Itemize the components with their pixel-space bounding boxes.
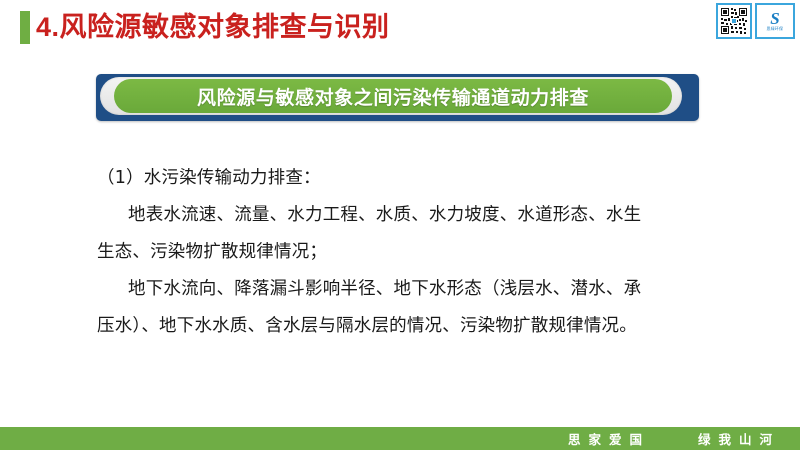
body-line: 地表水流速、流量、水力工程、水质、水力坡度、水道形态、水生 [97,197,722,234]
slide-footer: 思家爱国 绿我山河 [0,427,800,450]
body-line: 压水）、地下水水质、含水层与隔水层的情况、污染物扩散规律情况。 [97,308,722,345]
section-banner-inner: 风险源与敏感对象之间污染传输通道动力排查 [100,77,682,115]
footer-slogan-right: 绿我山河 [698,429,780,448]
logo-mark-icon: S [770,11,779,26]
company-logo[interactable]: S 思绿环保 [755,3,795,39]
body-line: 地下水流向、降落漏斗影响半径、地下水形态（浅层水、潜水、承 [97,271,722,308]
logo-caption: 思绿环保 [767,26,784,32]
section-banner-title: 风险源与敏感对象之间污染传输通道动力排查 [197,83,589,110]
qr-code-icon[interactable] [716,3,752,39]
body-line: 生态、污染物扩散规律情况； [97,234,722,271]
body-content: （1）水污染传输动力排查： 地表水流速、流量、水力工程、水质、水力坡度、水道形态… [97,160,722,345]
footer-slogans: 思家爱国 绿我山河 [568,427,780,450]
title-accent-bar [20,11,30,44]
brand-block: S 思绿环保 [716,3,795,39]
slide-canvas: 4.风险源敏感对象排查与识别 [0,0,800,450]
page-title: 4.风险源敏感对象排查与识别 [36,8,390,46]
body-line: （1）水污染传输动力排查： [97,160,722,197]
footer-slogan-left: 思家爱国 [568,429,650,448]
section-banner-pill: 风险源与敏感对象之间污染传输通道动力排查 [114,79,672,113]
section-banner: 风险源与敏感对象之间污染传输通道动力排查 [96,74,699,121]
slide-header: 4.风险源敏感对象排查与识别 [0,0,800,56]
